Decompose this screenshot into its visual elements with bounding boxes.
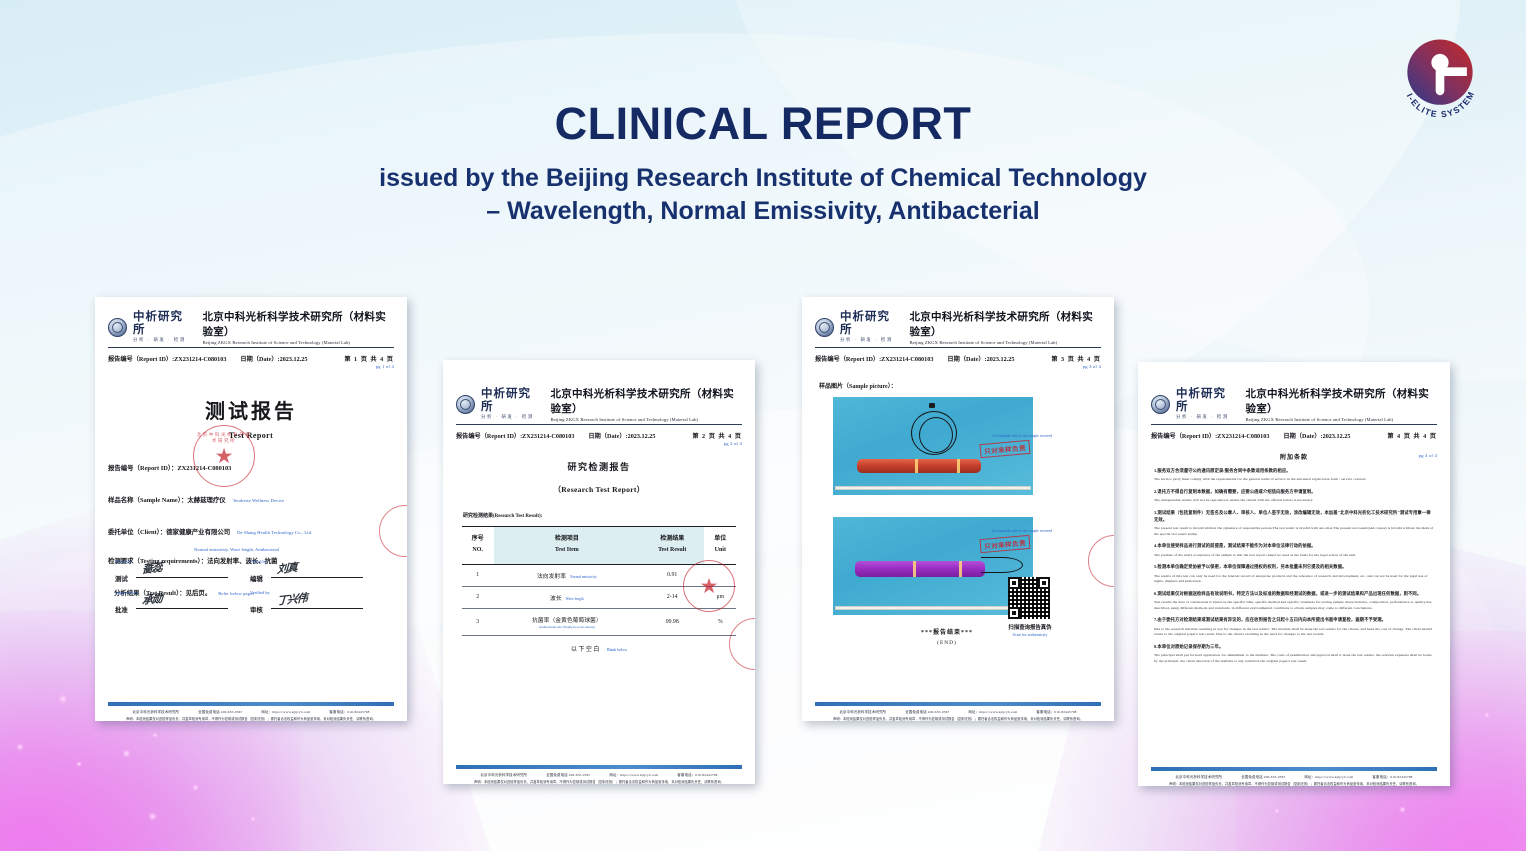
footer-accent-bar bbox=[108, 702, 394, 706]
report-id-value: ZX231214-C080103 bbox=[174, 356, 226, 363]
qr-eye-icon bbox=[1008, 607, 1020, 619]
footer-website[interactable]: 网址：https://www.kjtjcyb.com bbox=[1304, 775, 1353, 779]
bokeh-dot bbox=[58, 694, 68, 704]
report-id-value: ZX231214-C080103 bbox=[1217, 433, 1269, 440]
footer-hotline: 全国免费电话 400-635-0567 bbox=[546, 773, 590, 777]
terms-list: 1.服务双方合须遵守公约通讯原定录/服务合同中条款适用条款的相应。 The se… bbox=[1151, 468, 1437, 665]
signature-edited-by: Edited by 编辑 刘真 bbox=[250, 565, 385, 583]
bokeh-dot bbox=[152, 732, 158, 738]
signature-tested-by-line: 蔷蕊 bbox=[136, 567, 228, 578]
bokeh-dot bbox=[1274, 808, 1280, 814]
term-3-cn: 3.测试结果（包括复制件）无签名及公章人、审核人、单位人签字无效，涂改编辑无效，… bbox=[1154, 510, 1434, 523]
signature-approved-by-label: 批准 bbox=[115, 605, 128, 614]
i-elite-system-logo-icon: I-ELITE SYSTEM bbox=[1392, 28, 1488, 124]
row2-item: 波长Wave length bbox=[494, 586, 640, 608]
row2-result: 2-14 bbox=[640, 586, 704, 608]
field-report-id-label: 报告编号（Report ID）： bbox=[108, 465, 177, 472]
signature-approved-by-line: 承勋 bbox=[136, 598, 228, 609]
document-page-1[interactable]: 中析研究所 分析 · 研发 · 检测 北京中科光析科学技术研究所（材料实验室） … bbox=[95, 297, 407, 721]
doc2-title-cn: 研究检测报告 bbox=[456, 460, 742, 473]
qr-eye-icon bbox=[1008, 577, 1020, 589]
footer-hotline: 全国免费电话 400-635-0567 bbox=[198, 710, 242, 714]
report-date-label: 日期（Date）: bbox=[588, 431, 627, 440]
term-8-en: The principal shall put forward applicat… bbox=[1154, 653, 1434, 664]
institute-header: 中析研究所 分析 · 研发 · 检测 北京中科光析科学技术研究所（材料实验室） … bbox=[815, 309, 1101, 345]
qr-caption-cn: 扫描查询报告真伪 bbox=[1008, 625, 1051, 631]
signature-tested-by-ink: 蔷蕊 bbox=[141, 559, 162, 577]
row3-item-cn: 抗菌率（金黄色葡萄球菌） bbox=[532, 618, 602, 624]
header: CLINICAL REPORT issued by the Beijing Re… bbox=[0, 100, 1526, 229]
term-item: 8.本单位对原始记录保存期为三年。 The principal shall pu… bbox=[1154, 644, 1434, 665]
row2-unit: μm bbox=[704, 586, 736, 608]
institute-name-en: Beijing ZKGX Research Institute of Scien… bbox=[202, 340, 394, 345]
signature-approved-by-en: Approved by bbox=[115, 590, 138, 595]
term-3-en: The present test result is invalid witho… bbox=[1154, 526, 1434, 537]
bokeh-dot bbox=[1484, 712, 1490, 718]
institute-seal-name: 中析研究所 bbox=[1176, 388, 1231, 412]
footer-service: 客服电话：010-82445798 bbox=[329, 710, 369, 714]
document-meta-row: 报告编号（Report ID）: ZX231214-C080103 日期（Dat… bbox=[108, 354, 394, 363]
bokeh-dot bbox=[1399, 806, 1406, 813]
institute-name-en: Beijing ZKGX Research Institute of Scien… bbox=[550, 417, 742, 422]
term-item: 3.测试结果（包括复制件）无签名及公章人、审核人、单位人签字无效，涂改编辑无效，… bbox=[1154, 510, 1434, 537]
col-no-cn: 序号 bbox=[464, 534, 492, 545]
footer-service: 客服电话：010-82445798 bbox=[1036, 710, 1076, 714]
header-divider bbox=[815, 347, 1101, 348]
institute-name-cn: 北京中科光析科学技术研究所（材料实验室） bbox=[550, 386, 742, 416]
device-plug-icon bbox=[929, 403, 935, 408]
row1-item: 法向发射率Normal emissivity bbox=[494, 564, 640, 586]
device-band bbox=[915, 459, 918, 473]
signature-verified-by-label: 审核 bbox=[250, 605, 263, 614]
blank-below-note: 以下空白Blank below bbox=[456, 644, 742, 653]
signature-edited-by-en: Edited by bbox=[250, 559, 267, 564]
device-band bbox=[913, 561, 916, 577]
page-indicator-cn: 第 3 页 共 4 页 bbox=[1051, 354, 1101, 363]
institute-name-cn: 北京中科光析科学技术研究所（材料实验室） bbox=[909, 309, 1101, 339]
signature-verified-by-line: 丁兴伟 bbox=[271, 598, 363, 609]
footer-service: 客服电话：010-82445798 bbox=[1372, 775, 1412, 779]
footer-contact-line: 北京中科光析科学技术研究所 全国免费电话 400-635-0567 网址：htt… bbox=[815, 709, 1101, 714]
page-title: CLINICAL REPORT bbox=[0, 100, 1526, 148]
term-7-cn: 7.由于委托方对检测结果或测试结果有异议的，应在收到报告之日起十五日内向本所提出… bbox=[1154, 617, 1434, 623]
ruler-scale bbox=[835, 486, 1031, 490]
document-footer: 北京中科光析科学技术研究所 全国免费电话 400-635-0567 网址：htt… bbox=[815, 702, 1101, 721]
page-subtitle-line2: – Wavelength, Normal Emissivity, Antibac… bbox=[0, 195, 1526, 229]
page-indicator-en: pg 3 of 4 bbox=[815, 364, 1101, 369]
signature-tested-by: Tested by 测试 蔷蕊 bbox=[115, 565, 250, 583]
col-unit-cn: 单位 bbox=[706, 534, 734, 545]
footer-website[interactable]: 网址：https://www.kjtjcyb.com bbox=[968, 710, 1017, 714]
brand-logo: I-ELITE SYSTEM bbox=[1392, 28, 1488, 124]
term-1-en: The service party must comply with the r… bbox=[1154, 477, 1434, 483]
institute-seal-icon bbox=[815, 318, 834, 337]
term-item: 6.测试结果仅对根据送检样品有效说明书，特定方法以及标准的数据和经测试的数据，或… bbox=[1154, 591, 1434, 612]
institute-seal-name: 中析研究所 bbox=[481, 388, 536, 412]
report-id-label: 报告编号（Report ID）: bbox=[108, 354, 174, 363]
term-8-cn: 8.本单位对原始记录保存期为三年。 bbox=[1154, 644, 1434, 650]
device-body-red bbox=[857, 459, 981, 473]
field-report-id-value: ZX231214-C080103 bbox=[177, 465, 231, 472]
signature-block: Tested by 测试 蔷蕊 Approved by 批准 承勋 Edited… bbox=[115, 565, 385, 627]
table-header-row: 序号 NO. 检测项目 Test Item 检测结果 Test Result bbox=[462, 527, 737, 565]
footer-org: 北京中科光析科学技术研究所 bbox=[132, 710, 179, 714]
footer-disclaimer: 声明：本检测结果仅对送检样品负责。并盖章检测专用章，不得作为复制或测试报告（复制… bbox=[1151, 781, 1437, 786]
bokeh-dot bbox=[122, 749, 131, 758]
photo1-accountable-note: Accountable only for the sample received bbox=[992, 434, 1052, 438]
institute-header: 中析研究所 分析 · 研发 · 检测 北京中科光析科学技术研究所（材料实验室） … bbox=[456, 386, 742, 422]
institute-seal-subtitle: 分析 · 研发 · 检测 bbox=[840, 337, 895, 343]
footer-hotline: 全国免费电话 400-635-0567 bbox=[1241, 775, 1285, 779]
field-client: 委托单位（Client）：德家健康产业有限公司De Shang Health T… bbox=[108, 527, 394, 536]
footer-contact-line: 北京中科光析科学技术研究所 全国免费电话 400-635-0567 网址：htt… bbox=[456, 772, 742, 777]
table-row: 2 波长Wave length 2-14 μm bbox=[462, 586, 737, 608]
signature-column-right: Edited by 编辑 刘真 Verified by 审核 丁兴伟 bbox=[250, 565, 385, 627]
signature-edited-by-ink: 刘真 bbox=[276, 559, 297, 577]
signature-approved-by: Approved by 批准 承勋 bbox=[115, 596, 250, 614]
footer-org: 北京中科光析科学技术研究所 bbox=[839, 710, 886, 714]
col-result-cn: 检测结果 bbox=[642, 534, 702, 545]
institute-header: 中析研究所 分析 · 研发 · 检测 北京中科光析科学技术研究所（材料实验室） … bbox=[108, 309, 394, 345]
header-divider bbox=[108, 347, 394, 348]
document-page-3[interactable]: 中析研究所 分析 · 研发 · 检测 北京中科光析科学技术研究所（材料实验室） … bbox=[802, 297, 1114, 721]
device-band bbox=[957, 459, 960, 473]
field-sample-name-en: Terahertz Wellness Device bbox=[233, 498, 284, 503]
photo2-accountable-note: Accountable only for the sample received bbox=[992, 529, 1052, 533]
term-4-en: The premise of the unit's acceptance of … bbox=[1154, 553, 1434, 559]
institute-header: 中析研究所 分析 · 研发 · 检测 北京中科光析科学技术研究所（材料实验室） … bbox=[1151, 386, 1437, 422]
row3-result: 99.98 bbox=[640, 608, 704, 635]
term-item: 7.由于委托方对检测结果或测试结果有异议的，应在收到报告之日起十五日内向本所提出… bbox=[1154, 617, 1434, 638]
table-row: 1 法向发射率Normal emissivity 0.91 bbox=[462, 564, 737, 586]
authenticity-qr-code[interactable] bbox=[1008, 577, 1050, 619]
document-meta-row: 报告编号（Report ID）: ZX231214-C080103 日期（Dat… bbox=[815, 354, 1101, 363]
term-item: 4.本单位接受样品进行测试的前提是，测试结果不能作为对本单位法律行动的依据。 T… bbox=[1154, 543, 1434, 558]
institute-name-en: Beijing ZKGX Research Institute of Scien… bbox=[1245, 417, 1437, 422]
signature-verified-by: Verified by 审核 丁兴伟 bbox=[250, 596, 385, 614]
term-5-cn: 5.检测本单位确定受协被予以保密，本单位保障通过授权的权利，另本批量未列它提及的… bbox=[1154, 564, 1434, 570]
footer-website[interactable]: 网址：https://www.kjtjcyb.com bbox=[261, 710, 310, 714]
report-end-en: (END) bbox=[892, 640, 1002, 646]
row1-no: 1 bbox=[462, 564, 494, 586]
table-row: 3 抗菌率（金黄色葡萄球菌） Antibacterial rate (Staph… bbox=[462, 608, 737, 635]
slide-canvas: I-ELITE SYSTEM CLINICAL REPORT issued by… bbox=[0, 0, 1526, 851]
device-band bbox=[959, 561, 962, 577]
term-1-cn: 1.服务双方合须遵守公约通讯原定录/服务合同中条款适用条款的相应。 bbox=[1154, 468, 1434, 474]
row2-item-en: Wave length bbox=[566, 597, 584, 601]
report-end-cn: ***报告结束*** bbox=[921, 630, 973, 636]
footer-contact-line: 北京中科光析科学技术研究所 全国免费电话 400-635-0567 网址：htt… bbox=[1151, 774, 1437, 779]
bokeh-dot bbox=[16, 743, 24, 751]
institute-seal-subtitle: 分析 · 研发 · 检测 bbox=[133, 337, 188, 343]
footer-disclaimer: 声明：本检测结果仅对送检样品负责。并盖章检测专用章，不得作为复制或测试报告（复制… bbox=[456, 779, 742, 784]
document-meta-row: 报告编号（Report ID）: ZX231214-C080103 日期（Dat… bbox=[456, 431, 742, 440]
signature-column-left: Tested by 测试 蔷蕊 Approved by 批准 承勋 bbox=[115, 565, 250, 627]
footer-accent-bar bbox=[456, 765, 742, 769]
signature-edited-by-line: 刘真 bbox=[271, 567, 363, 578]
field-report-id: 报告编号（Report ID）：ZX231214-C080103 bbox=[108, 463, 394, 472]
signature-verified-by-en: Verified by bbox=[250, 590, 270, 595]
bokeh-dot bbox=[148, 812, 157, 821]
footer-hotline: 全国免费电话 400-635-0567 bbox=[905, 710, 949, 714]
page-subtitle-line1: issued by the Beijing Research Institute… bbox=[0, 162, 1526, 196]
header-divider bbox=[456, 424, 742, 425]
row2-no: 2 bbox=[462, 586, 494, 608]
term-7-en: Due to the research institute resulting … bbox=[1154, 627, 1434, 638]
col-result: 检测结果 Test Result bbox=[640, 527, 704, 565]
institute-seal-icon bbox=[108, 318, 127, 337]
institute-seal-subtitle: 分析 · 研发 · 检测 bbox=[1176, 414, 1231, 420]
row1-item-cn: 法向发射率 bbox=[537, 574, 566, 580]
row2-item-cn: 波长 bbox=[550, 596, 562, 602]
signature-verified-by-ink: 丁兴伟 bbox=[276, 589, 307, 608]
col-no: 序号 NO. bbox=[462, 527, 494, 565]
term-6-en: Test results the data or conclusions is … bbox=[1154, 600, 1434, 611]
field-client-label: 委托单位（Client）： bbox=[108, 529, 166, 536]
row3-unit: % bbox=[704, 608, 736, 635]
row1-unit bbox=[704, 564, 736, 586]
footer-service: 客服电话：010-82445798 bbox=[677, 773, 717, 777]
doc1-title-cn: 测试报告 bbox=[108, 395, 394, 424]
signature-tested-by-en: Tested by bbox=[115, 559, 132, 564]
footer-disclaimer: 声明：本检测结果仅对送检样品负责。并盖章检测专用章，不得作为复制或测试报告（复制… bbox=[815, 716, 1101, 721]
report-id-value: ZX231214-C080103 bbox=[881, 356, 933, 363]
footer-accent-bar bbox=[1151, 767, 1437, 771]
term-2-cn: 2.退托方不得自行复制本数据，如确有需要，应要公函或介绍信向服务方申请复制。 bbox=[1154, 489, 1434, 495]
col-unit: 单位 Unit bbox=[704, 527, 736, 565]
page-indicator-cn: 第 1 页 共 4 页 bbox=[344, 354, 394, 363]
blank-below-en: Blank below bbox=[607, 647, 627, 652]
report-date-value: 2023.12.25 bbox=[1323, 433, 1351, 440]
institute-seal-icon bbox=[456, 395, 475, 414]
footer-disclaimer: 声明：本检测结果仅对送检样品负责。并盖章检测专用章，不得作为复制或测试报告（复制… bbox=[108, 716, 394, 721]
field-sample-name: 样品名称（Sample Name）：太赫兹理疗仪Terahertz Wellne… bbox=[108, 495, 394, 504]
col-unit-en: Unit bbox=[706, 545, 734, 556]
document-footer: 北京中科光析科学技术研究所 全国免费电话 400-635-0567 网址：htt… bbox=[108, 702, 394, 721]
field-client-en: De Shang Health Technology Co., Ltd. bbox=[237, 530, 312, 535]
test-results-table: 序号 NO. 检测项目 Test Item 检测结果 Test Result bbox=[462, 526, 737, 636]
page-indicator-cn: 第 2 页 共 4 页 bbox=[692, 431, 742, 440]
page-indicator-en: pg 1 of 4 bbox=[108, 364, 394, 369]
institute-seal-icon bbox=[1151, 395, 1170, 414]
doc1-title-en: Test Report bbox=[108, 431, 394, 440]
report-date-value: 2023.12.25 bbox=[987, 356, 1015, 363]
bokeh-dot bbox=[192, 784, 199, 791]
document-page-4[interactable]: 中析研究所 分析 · 研发 · 检测 北京中科光析科学技术研究所（材料实验室） … bbox=[1138, 362, 1450, 786]
institute-seal-name: 中析研究所 bbox=[133, 311, 188, 335]
col-item: 检测项目 Test Item bbox=[494, 527, 640, 565]
institute-seal-name: 中析研究所 bbox=[840, 311, 895, 335]
col-item-cn: 检测项目 bbox=[496, 534, 638, 545]
footer-website[interactable]: 网址：https://www.kjtjcyb.com bbox=[609, 773, 658, 777]
row3-item: 抗菌率（金黄色葡萄球菌） Antibacterial rate (Staphyl… bbox=[494, 608, 640, 635]
results-heading: 研究检测结果(Research Test Result): bbox=[463, 512, 742, 519]
device-cable-icon bbox=[919, 417, 953, 453]
row1-item-en: Normal emissivity bbox=[570, 575, 597, 579]
footer-accent-bar bbox=[815, 702, 1101, 706]
footer-contact-line: 北京中科光析科学技术研究所 全国免费电话 400-635-0567 网址：htt… bbox=[108, 709, 394, 714]
page-indicator-cn: 第 4 页 共 4 页 bbox=[1387, 431, 1437, 440]
header-divider bbox=[1151, 424, 1437, 425]
bokeh-dot bbox=[76, 761, 82, 767]
document-page-2[interactable]: 中析研究所 分析 · 研发 · 检测 北京中科光析科学技术研究所（材料实验室） … bbox=[443, 360, 755, 784]
field-client-value: 德家健康产业有限公司 bbox=[166, 529, 230, 536]
page-subtitle: issued by the Beijing Research Institute… bbox=[0, 162, 1526, 230]
institute-name-en: Beijing ZKGX Research Institute of Scien… bbox=[909, 340, 1101, 345]
term-item: 2.退托方不得自行复制本数据，如确有需要，应要公函或介绍信向服务方申请复制。 T… bbox=[1154, 489, 1434, 504]
page-indicator-en: pg 2 of 4 bbox=[456, 441, 742, 446]
col-item-en: Test Item bbox=[496, 545, 638, 556]
footer-org: 北京中科光析科学技术研究所 bbox=[1175, 775, 1222, 779]
field-sample-name-label: 样品名称（Sample Name）： bbox=[108, 497, 187, 504]
report-date-value: 2023.12.25 bbox=[628, 433, 656, 440]
term-2-en: The unrepeatable results will not be rep… bbox=[1154, 498, 1434, 504]
document-footer: 北京中科光析科学技术研究所 全国免费电话 400-635-0567 网址：htt… bbox=[1151, 767, 1437, 786]
term-4-cn: 4.本单位接受样品进行测试的前提是，测试结果不能作为对本单位法律行动的依据。 bbox=[1154, 543, 1434, 549]
sample-picture-label: 样品图片（Sample picture）： bbox=[819, 381, 1101, 390]
report-end-mark: ***报告结束*** (END) bbox=[892, 627, 1002, 646]
row3-no: 3 bbox=[462, 608, 494, 635]
document-footer: 北京中科光析科学技术研究所 全国免费电话 400-635-0567 网址：htt… bbox=[456, 765, 742, 784]
row1-result: 0.91 bbox=[640, 564, 704, 586]
device-body-purple bbox=[855, 561, 985, 577]
institute-name-cn: 北京中科光析科学技术研究所（材料实验室） bbox=[1245, 386, 1437, 416]
col-no-en: NO. bbox=[464, 545, 492, 556]
signature-tested-by-label: 测试 bbox=[115, 574, 128, 583]
report-id-value: ZX231214-C080103 bbox=[522, 433, 574, 440]
signature-approved-by-ink: 承勋 bbox=[141, 590, 162, 608]
row3-item-en: Antibacterial rate (Staphylococcus aureu… bbox=[496, 625, 638, 629]
report-date-value: 2023.12.25 bbox=[280, 356, 308, 363]
footer-org: 北京中科光析科学技术研究所 bbox=[480, 773, 527, 777]
term-item: 5.检测本单位确定受协被予以保密，本单位保障通过授权的权利，另本批量未列它提及的… bbox=[1154, 564, 1434, 585]
institute-seal-subtitle: 分析 · 研发 · 检测 bbox=[481, 414, 536, 420]
field-sample-name-value: 太赫兹理疗仪 bbox=[187, 497, 225, 504]
blank-below-cn: 以下空白 bbox=[571, 647, 601, 653]
col-result-en: Test Result bbox=[642, 545, 702, 556]
device-cable-icon bbox=[981, 557, 1023, 573]
doc2-title-en: （Research Test Report） bbox=[456, 484, 742, 495]
signature-edited-by-label: 编辑 bbox=[250, 574, 263, 583]
document-meta-row: 报告编号（Report ID）: ZX231214-C080103 日期（Dat… bbox=[1151, 431, 1437, 440]
report-date-label: 日期（Date）: bbox=[1283, 431, 1322, 440]
ruler-scale bbox=[835, 606, 1031, 610]
report-date-label: 日期（Date）: bbox=[240, 354, 279, 363]
institute-name-cn: 北京中科光析科学技术研究所（材料实验室） bbox=[202, 309, 394, 339]
field-testing-requirements-en: Normal emissivity, Wave length, Antibact… bbox=[194, 547, 279, 552]
edge-red-stamp bbox=[1088, 535, 1114, 587]
report-id-label: 报告编号（Report ID）: bbox=[815, 354, 881, 363]
bokeh-dot bbox=[250, 816, 256, 822]
term-item: 1.服务双方合须遵守公约通讯原定录/服务合同中条款适用条款的相应。 The se… bbox=[1154, 468, 1434, 483]
qr-eye-icon bbox=[1038, 577, 1050, 589]
report-id-label: 报告编号（Report ID）: bbox=[1151, 431, 1217, 440]
report-date-label: 日期（Date）: bbox=[947, 354, 986, 363]
term-6-cn: 6.测试结果仅对根据送检样品有效说明书，特定方法以及标准的数据和经测试的数据，或… bbox=[1154, 591, 1434, 597]
report-id-label: 报告编号（Report ID）: bbox=[456, 431, 522, 440]
term-5-en: The results of this test can only be use… bbox=[1154, 574, 1434, 585]
